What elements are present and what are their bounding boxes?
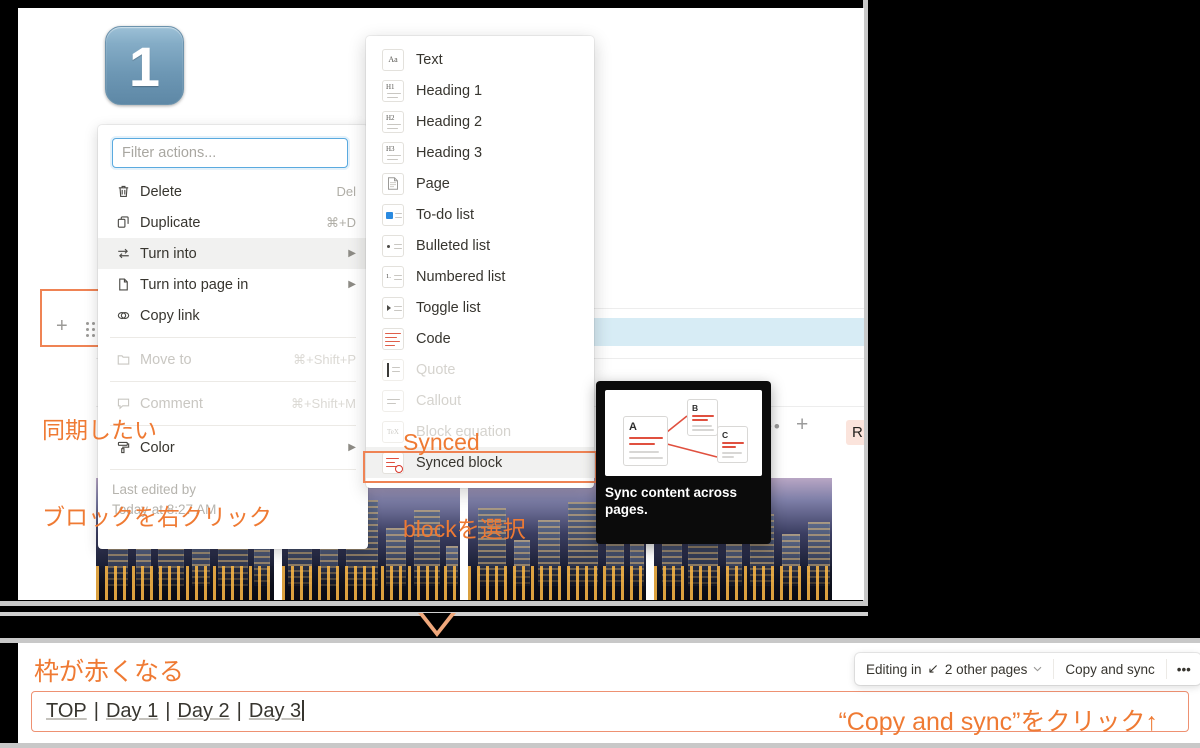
synced-block-tooltip: A B C: [596, 381, 771, 544]
annotation-line-1: 同期したい: [42, 416, 272, 445]
submenu-item-heading-1[interactable]: H1 Heading 1: [366, 75, 594, 106]
menu-item-shortcut: Del: [336, 184, 356, 199]
menu-item-label: Delete: [140, 184, 182, 200]
chevron-down-icon: [1033, 664, 1042, 675]
submenu-item-label: Heading 1: [416, 83, 482, 99]
submenu-item-label: Toggle list: [416, 300, 480, 316]
numbered-icon: 1.: [382, 266, 404, 288]
breadcrumb-item-top[interactable]: TOP: [46, 700, 87, 722]
text-cursor: [302, 700, 304, 721]
menu-item-delete[interactable]: Delete Del: [98, 176, 368, 207]
menu-item-label: Turn into: [140, 246, 197, 262]
menu-divider: [110, 337, 356, 338]
flow-arrow-inner: [423, 613, 451, 631]
submenu-item-todo-list[interactable]: To-do list: [366, 199, 594, 230]
editing-in-button[interactable]: Editing in ↙ 2 other pages: [855, 653, 1053, 685]
annotation-line-2: blockを選択: [403, 515, 526, 544]
submenu-item-label: Heading 3: [416, 145, 482, 161]
menu-item-shortcut: ⌘+D: [326, 215, 356, 231]
duplicate-icon: [112, 215, 134, 230]
copy-and-sync-button[interactable]: Copy and sync: [1054, 653, 1165, 685]
code-icon: [382, 328, 404, 350]
submenu-item-label: Text: [416, 52, 443, 68]
submenu-item-heading-3[interactable]: H3 Heading 3: [366, 137, 594, 168]
toggle-icon: [382, 297, 404, 319]
filter-actions-input[interactable]: [112, 138, 348, 168]
add-block-plus[interactable]: +: [796, 413, 810, 437]
breadcrumb[interactable]: TOP|Day 1|Day 2|Day 3: [46, 700, 304, 723]
submenu-item-bulleted-list[interactable]: Bulleted list: [366, 230, 594, 261]
menu-item-turn-into[interactable]: Turn into ▶: [98, 238, 368, 269]
tooltip-doc-a-label: A: [629, 421, 637, 433]
notion-page-canvas: 1 ••• + R: [18, 8, 864, 600]
trash-icon: [112, 184, 134, 199]
arrow-down-left-icon: ↙: [928, 661, 939, 677]
page-icon: [382, 173, 404, 195]
quote-icon: [382, 359, 404, 381]
submenu-item-label: Heading 2: [416, 114, 482, 130]
top-screenshot-frame: 1 ••• + R: [0, 0, 868, 606]
tooltip-doc-a: A: [623, 416, 668, 466]
submenu-item-label: Code: [416, 331, 451, 347]
breadcrumb-item-day-2[interactable]: Day 2: [177, 700, 229, 722]
annotation-select-synced-block: Synced blockを選択: [403, 370, 526, 600]
chevron-right-icon: ▶: [348, 248, 356, 259]
turn-into-icon: [112, 246, 134, 261]
text-icon: Aa: [382, 49, 404, 71]
submenu-item-label: Page: [416, 176, 450, 192]
submenu-item-numbered-list[interactable]: 1. Numbered list: [366, 261, 594, 292]
heading1-icon: H1: [382, 80, 404, 102]
callout-icon: [382, 390, 404, 412]
breadcrumb-item-day-1[interactable]: Day 1: [106, 700, 158, 722]
heading2-icon: H2: [382, 111, 404, 133]
annotation-click-copy-and-sync: “Copy and sync”をクリック↑: [838, 702, 1158, 738]
heading3-icon: H3: [382, 142, 404, 164]
link-icon: [112, 308, 134, 323]
add-block-icon[interactable]: +: [56, 319, 71, 334]
submenu-item-page[interactable]: Page: [366, 168, 594, 199]
submenu-item-label: To-do list: [416, 207, 474, 223]
tooltip-doc-c: C: [717, 426, 748, 463]
other-pages-count: 2 other pages: [945, 662, 1028, 677]
step-number-badge: 1: [105, 26, 184, 105]
bulleted-icon: [382, 235, 404, 257]
editing-in-label: Editing in: [866, 662, 922, 677]
step-number-label: 1: [106, 27, 183, 106]
todo-icon: [382, 204, 404, 226]
submenu-item-code[interactable]: Code: [366, 323, 594, 354]
more-options-button[interactable]: •••: [1167, 653, 1200, 685]
menu-item-turn-into-page-in[interactable]: Turn into page in ▶: [98, 269, 368, 300]
menu-item-shortcut: ⌘+Shift+M: [291, 396, 356, 412]
menu-item-label: Copy link: [140, 308, 200, 324]
submenu-item-toggle-list[interactable]: Toggle list: [366, 292, 594, 323]
block-equation-icon: TeX: [382, 421, 404, 443]
menu-item-duplicate[interactable]: Duplicate ⌘+D: [98, 207, 368, 238]
annotation-line-1: Synced: [403, 428, 526, 457]
synced-block-toolbar[interactable]: Editing in ↙ 2 other pages Copy and sync…: [855, 653, 1200, 685]
submenu-item-text[interactable]: Aa Text: [366, 44, 594, 75]
drag-handle-icon[interactable]: [86, 322, 98, 340]
submenu-item-label: Bulleted list: [416, 238, 490, 254]
annotation-line-2: ブロックを右クリック: [42, 503, 272, 532]
menu-item-label: Turn into page in: [140, 277, 248, 293]
tooltip-doc-b: B: [687, 399, 718, 436]
breadcrumb-separator: |: [158, 700, 177, 722]
tooltip-diagram: A B C: [605, 390, 762, 476]
menu-item-copy-link[interactable]: Copy link: [98, 300, 368, 331]
breadcrumb-item-day-3[interactable]: Day 3: [249, 700, 301, 722]
tooltip-doc-b-label: B: [692, 403, 698, 413]
page-tag-badge: R: [846, 420, 864, 445]
tooltip-doc-c-label: C: [722, 430, 728, 440]
submenu-item-label: Numbered list: [416, 269, 505, 285]
breadcrumb-separator: |: [230, 700, 249, 722]
menu-item-label: Duplicate: [140, 215, 200, 231]
annotation-border-turns-red: 枠が赤くなる: [34, 652, 184, 688]
synced-block-container[interactable]: TOP|Day 1|Day 2|Day 3 “Copy and sync”をクリ…: [31, 691, 1189, 732]
tooltip-caption: Sync content across pages.: [605, 484, 762, 518]
chevron-right-icon: ▶: [348, 442, 356, 453]
synced-block-icon: [382, 452, 404, 474]
menu-item-shortcut: ⌘+Shift+P: [293, 352, 356, 368]
submenu-item-heading-2[interactable]: H2 Heading 2: [366, 106, 594, 137]
chevron-right-icon: ▶: [348, 279, 356, 290]
breadcrumb-separator: |: [87, 700, 106, 722]
page-icon: [112, 277, 134, 292]
annotation-right-click: 同期したい ブロックを右クリック: [42, 358, 272, 590]
